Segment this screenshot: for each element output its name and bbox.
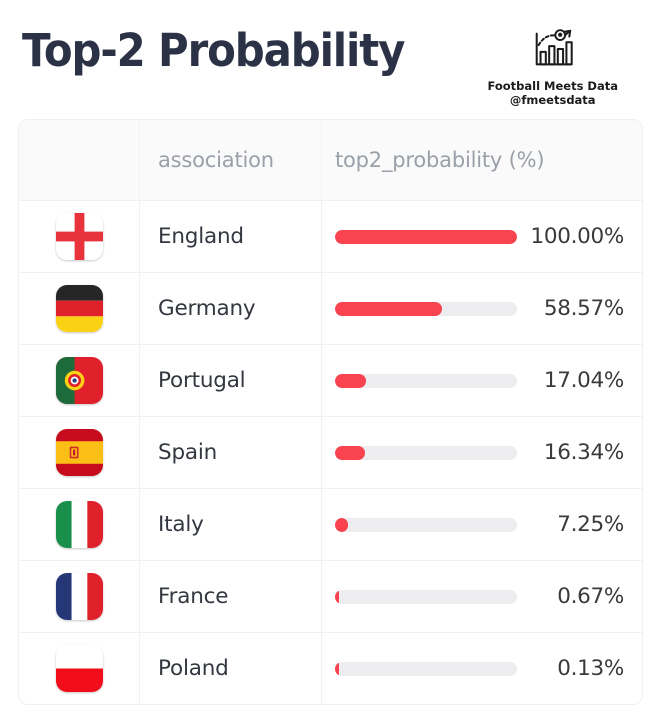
association-cell: England <box>140 201 322 272</box>
probability-cell: 58.57% <box>322 273 642 344</box>
probability-bar-track <box>335 662 517 676</box>
column-header-probability: top2_probability (%) <box>322 120 642 200</box>
probability-cell: 16.34% <box>322 417 642 488</box>
probability-bar-fill <box>335 590 339 604</box>
flag-cell <box>19 561 140 632</box>
flag-cell <box>19 489 140 560</box>
flag-cell <box>19 417 140 488</box>
bar-chart-arrow-football-logo-icon <box>530 26 576 72</box>
association-label: England <box>158 224 244 249</box>
page-header: Top-2 Probability Football Mee <box>0 0 660 118</box>
probability-value: 17.04% <box>517 368 624 393</box>
brand-name: Football Meets Data <box>487 79 618 93</box>
probability-value: 0.67% <box>517 584 624 609</box>
association-label: Germany <box>158 296 255 321</box>
poland-flag-icon <box>56 645 103 692</box>
table-row: Poland0.13% <box>19 633 642 704</box>
probability-bar-track <box>335 374 517 388</box>
brand-block: Football Meets Data @fmeetsdata <box>487 22 636 108</box>
probability-bar-fill <box>335 518 348 532</box>
probability-value: 7.25% <box>517 512 624 537</box>
table-row: Portugal17.04% <box>19 345 642 417</box>
table-body: England100.00% Germany58.57% Portugal17.… <box>19 201 642 704</box>
probability-bar-track <box>335 446 517 460</box>
probability-cell: 7.25% <box>322 489 642 560</box>
probability-value: 0.13% <box>517 656 624 681</box>
probability-bar-track <box>335 230 517 244</box>
probability-bar-fill <box>335 230 517 244</box>
france-flag-icon <box>56 573 103 620</box>
probability-bar-fill <box>335 302 442 316</box>
probability-bar-fill <box>335 374 366 388</box>
association-cell: Italy <box>140 489 322 560</box>
column-header-association: association <box>140 120 322 200</box>
association-cell: Poland <box>140 633 322 704</box>
probability-cell: 0.13% <box>322 633 642 704</box>
association-label: Poland <box>158 656 229 681</box>
spain-flag-icon <box>56 429 103 476</box>
table-row: Spain16.34% <box>19 417 642 489</box>
italy-flag-icon <box>56 501 103 548</box>
table-row: Italy7.25% <box>19 489 642 561</box>
probability-cell: 100.00% <box>322 201 642 272</box>
probability-value: 100.00% <box>517 224 624 249</box>
germany-flag-icon <box>56 285 103 332</box>
table-header-row: association top2_probability (%) <box>19 120 642 201</box>
association-cell: Portugal <box>140 345 322 416</box>
association-cell: Spain <box>140 417 322 488</box>
flag-cell <box>19 273 140 344</box>
column-header-flag <box>19 120 140 200</box>
table-row: France0.67% <box>19 561 642 633</box>
column-header-probability-label: top2_probability (%) <box>335 148 544 172</box>
table-row: Germany58.57% <box>19 273 642 345</box>
probability-cell: 0.67% <box>322 561 642 632</box>
infographic-page: Top-2 Probability Football Mee <box>0 0 660 713</box>
probability-table: association top2_probability (%) England… <box>18 119 643 705</box>
table-row: England100.00% <box>19 201 642 273</box>
probability-bar-track <box>335 590 517 604</box>
probability-value: 16.34% <box>517 440 624 465</box>
england-flag-icon <box>56 213 103 260</box>
association-label: Italy <box>158 512 204 537</box>
portugal-flag-icon <box>56 357 103 404</box>
brand-handle: @fmeetsdata <box>510 93 596 107</box>
page-title: Top-2 Probability <box>22 22 404 73</box>
association-cell: Germany <box>140 273 322 344</box>
association-label: France <box>158 584 228 609</box>
probability-bar-track <box>335 302 517 316</box>
probability-bar-fill <box>335 662 339 676</box>
probability-bar-fill <box>335 446 365 460</box>
column-header-association-label: association <box>158 148 274 172</box>
flag-cell <box>19 201 140 272</box>
probability-cell: 17.04% <box>322 345 642 416</box>
flag-cell <box>19 345 140 416</box>
association-label: Portugal <box>158 368 245 393</box>
association-label: Spain <box>158 440 217 465</box>
flag-cell <box>19 633 140 704</box>
association-cell: France <box>140 561 322 632</box>
probability-value: 58.57% <box>517 296 624 321</box>
probability-bar-track <box>335 518 517 532</box>
